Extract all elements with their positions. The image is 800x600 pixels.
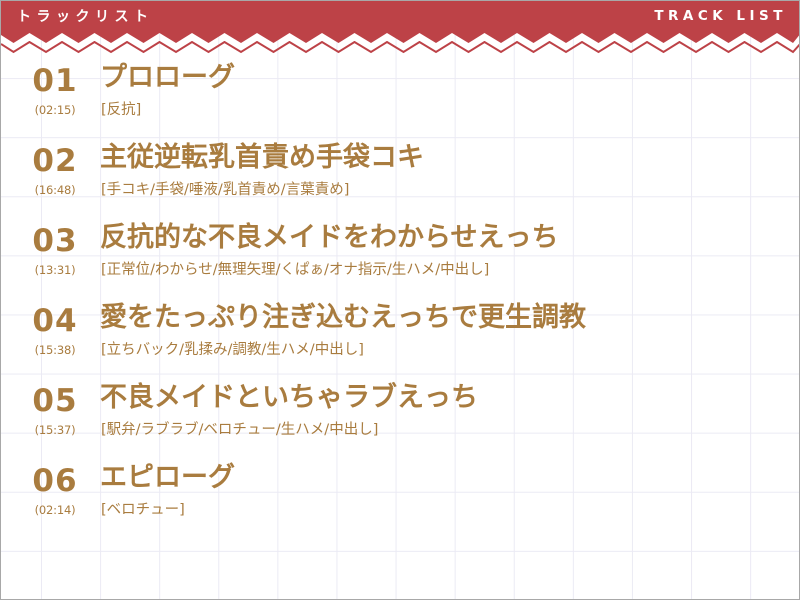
track-tags: [ベロチュー] xyxy=(101,501,185,520)
track-title: 不良メイドといちゃラブえっち xyxy=(100,381,478,415)
track-duration: (15:37) xyxy=(19,425,91,437)
track-title: 主従逆転乳首責め手袋コキ xyxy=(100,141,424,175)
track-tags: [駅弁/ラブラブ/ベロチュー/生ハメ/中出し] xyxy=(101,421,378,440)
track-number: 06 xyxy=(19,466,91,497)
track-number: 02 xyxy=(19,146,91,177)
track-row[interactable]: 04 (15:38) 愛をたっぷり注ぎ込むえっちで更生調教 [立ちバック/乳揉み… xyxy=(1,301,800,381)
track-number: 01 xyxy=(19,66,91,97)
page-header-band: トラックリスト TRACK LIST xyxy=(1,1,800,33)
track-tags: [手コキ/手袋/唾液/乳首責め/言葉責め] xyxy=(101,181,349,200)
track-tags: [立ちバック/乳揉み/調教/生ハメ/中出し] xyxy=(101,341,364,360)
track-tags: [反抗] xyxy=(101,101,141,120)
header-title-japanese: トラックリスト xyxy=(17,10,154,24)
track-number: 05 xyxy=(19,386,91,417)
track-number: 04 xyxy=(19,306,91,337)
track-title: 愛をたっぷり注ぎ込むえっちで更生調教 xyxy=(100,301,586,335)
track-list: 01 (02:15) プロローグ [反抗] 02 (16:48) 主従逆転乳首責… xyxy=(1,61,800,541)
track-tags: [正常位/わからせ/無理矢理/くぱぁ/オナ指示/生ハメ/中出し] xyxy=(101,261,489,280)
track-duration: (16:48) xyxy=(19,185,91,197)
header-title-english: TRACK LIST xyxy=(654,10,787,24)
track-duration: (15:38) xyxy=(19,345,91,357)
track-duration: (02:14) xyxy=(19,505,91,517)
track-number: 03 xyxy=(19,226,91,257)
track-title: エピローグ xyxy=(100,461,235,495)
track-title: 反抗的な不良メイドをわからせえっち xyxy=(100,221,558,255)
track-row[interactable]: 03 (13:31) 反抗的な不良メイドをわからせえっち [正常位/わからせ/無… xyxy=(1,221,800,301)
track-row[interactable]: 02 (16:48) 主従逆転乳首責め手袋コキ [手コキ/手袋/唾液/乳首責め/… xyxy=(1,141,800,221)
track-row[interactable]: 01 (02:15) プロローグ [反抗] xyxy=(1,61,800,141)
track-duration: (13:31) xyxy=(19,265,91,277)
track-duration: (02:15) xyxy=(19,105,91,117)
track-list-page: トラックリスト TRACK LIST 01 (02:15) プロローグ [反抗]… xyxy=(0,0,800,600)
track-title: プロローグ xyxy=(100,61,235,95)
track-row[interactable]: 05 (15:37) 不良メイドといちゃラブえっち [駅弁/ラブラブ/ベロチュー… xyxy=(1,381,800,461)
track-row[interactable]: 06 (02:14) エピローグ [ベロチュー] xyxy=(1,461,800,541)
zigzag-solid-edge-decoration xyxy=(1,32,800,44)
